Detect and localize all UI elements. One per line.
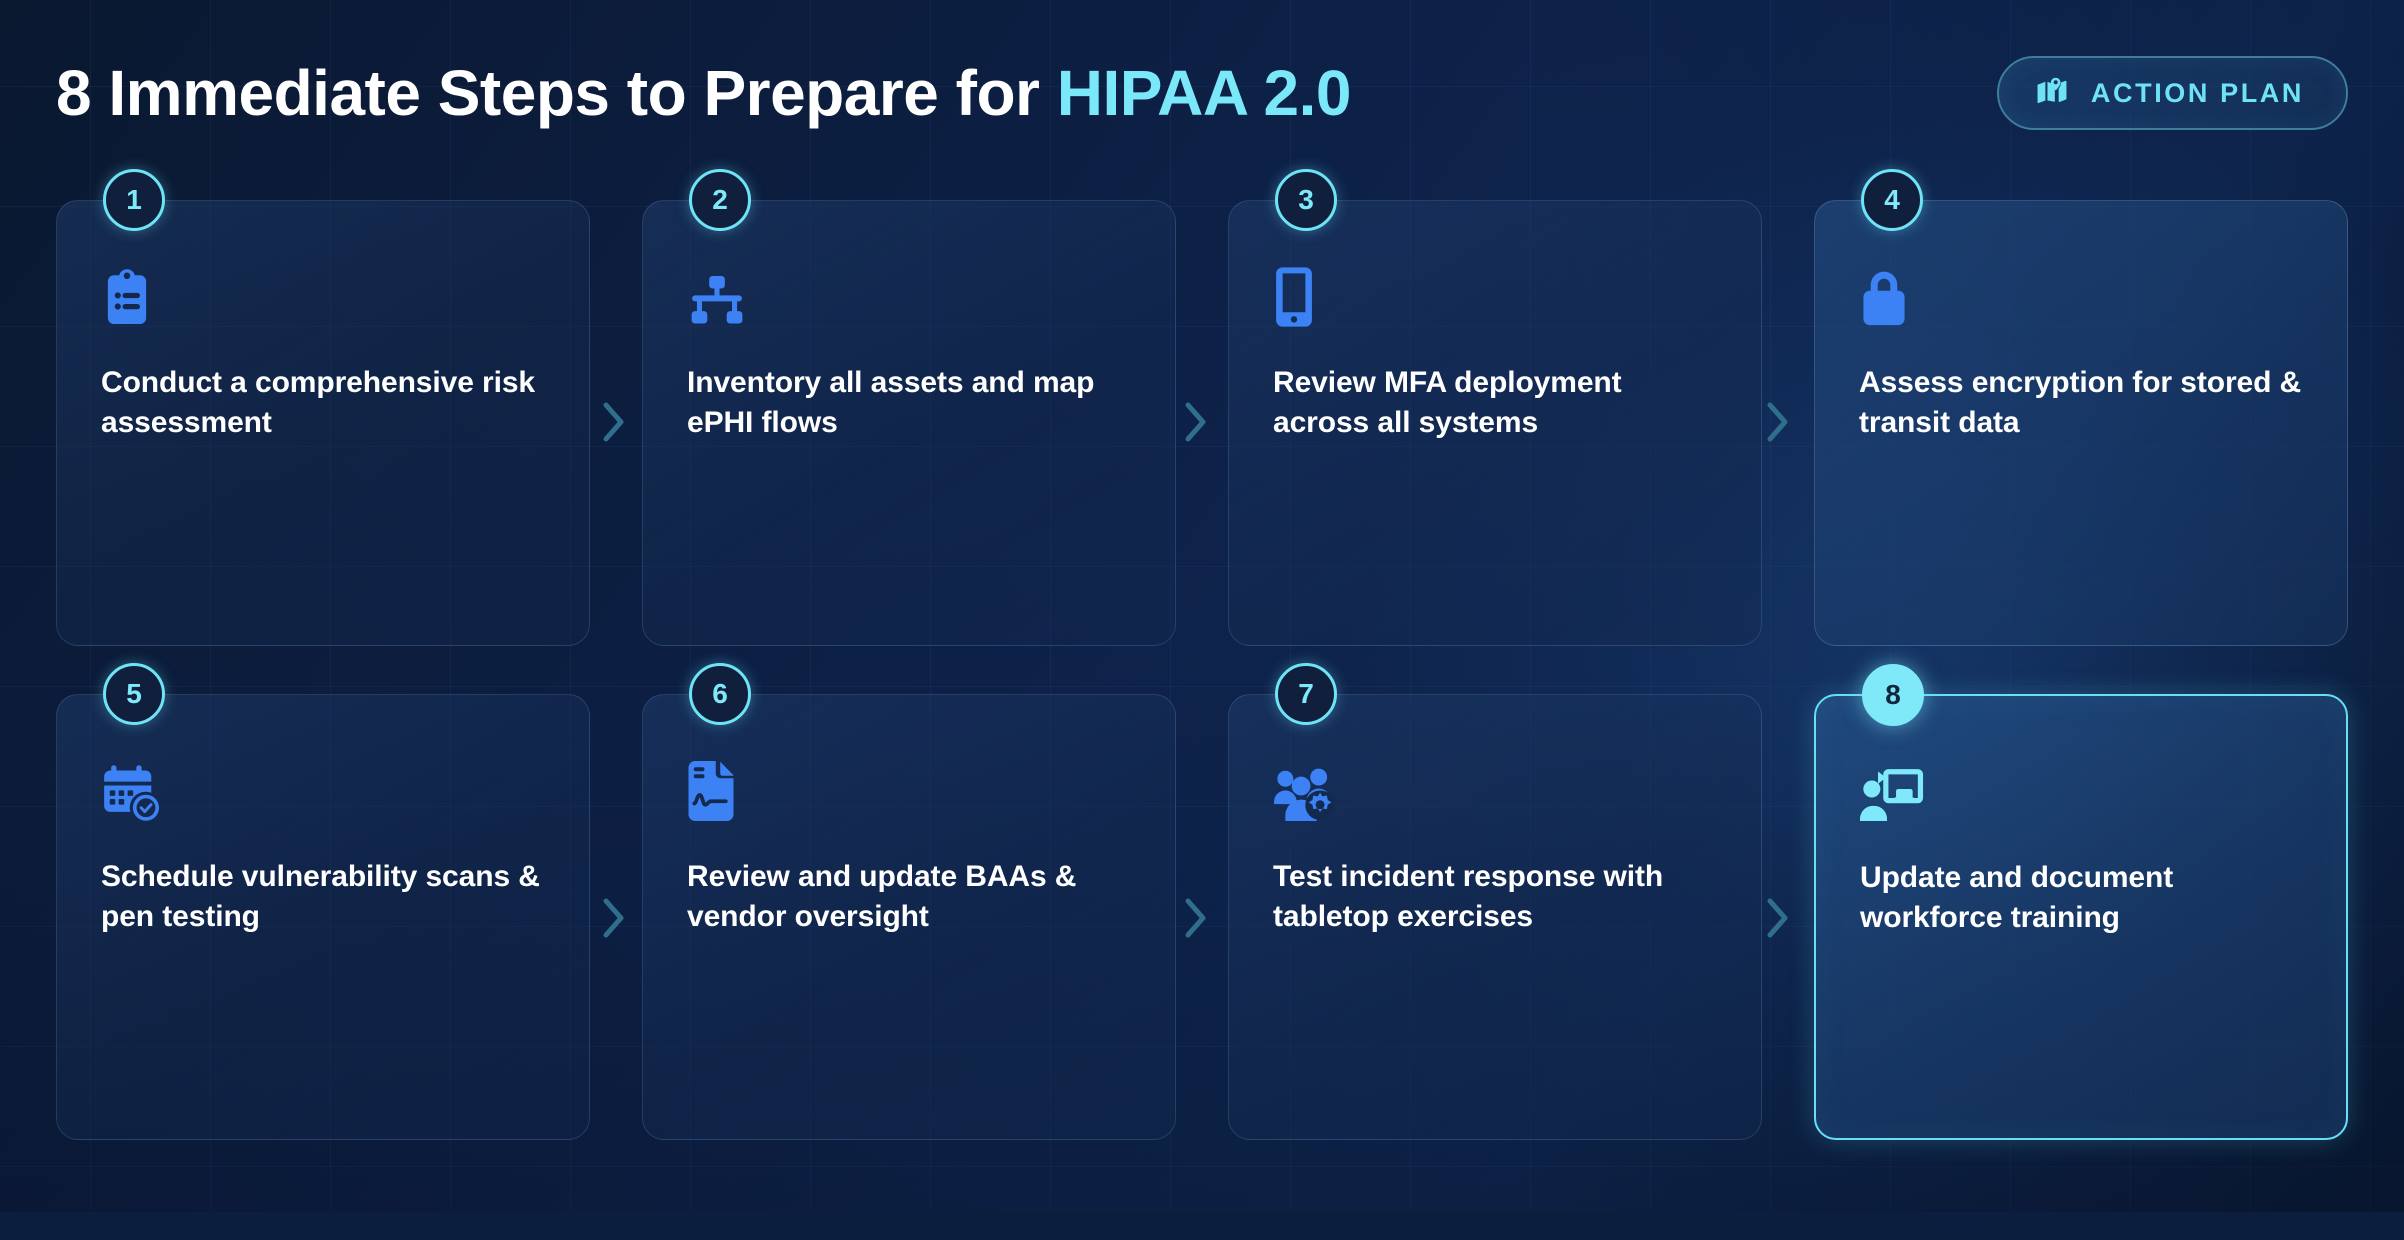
clipboard-list-icon — [101, 263, 545, 327]
map-pin-icon — [2035, 76, 2069, 110]
step-number-badge-1: 1 — [103, 169, 165, 231]
step-card-7-text: Test incident response with tabletop exe… — [1273, 857, 1717, 937]
mobile-phone-icon — [1273, 263, 1717, 327]
step-card-7[interactable]: 7 Test incident response with table — [1228, 694, 1762, 1140]
step-card-4[interactable]: 4 Assess encryption for stored & transit… — [1814, 200, 2348, 646]
step-card-5-text: Schedule vulnerability scans & pen testi… — [101, 857, 545, 937]
step-card-8-text: Update and document workforce training — [1860, 858, 2302, 938]
step-card-5[interactable]: 5 Schedule vulnerabili — [56, 694, 590, 1140]
step-card-2[interactable]: 2 Inventory all assets and map ePHI flow… — [642, 200, 1176, 646]
lock-icon — [1859, 263, 2303, 327]
step-number-badge-7: 7 — [1275, 663, 1337, 725]
step-card-3-surface: 3 Review MFA deployment across all syste… — [1228, 200, 1762, 646]
page-title-accent: HIPAA 2.0 — [1057, 57, 1351, 129]
sitemap-network-icon — [687, 263, 1131, 327]
step-card-4-surface: 4 Assess encryption for stored & transit… — [1814, 200, 2348, 646]
file-waveform-icon — [687, 757, 1131, 821]
step-card-1-surface: 1 Conduct a comprehensive risk assessmen… — [56, 200, 590, 646]
step-number-badge-8: 8 — [1862, 664, 1924, 726]
step-card-1-text: Conduct a comprehensive risk assessment — [101, 363, 545, 443]
step-card-7-surface: 7 Test incident response with table — [1228, 694, 1762, 1140]
action-plan-badge[interactable]: ACTION PLAN — [1997, 56, 2348, 130]
users-gear-icon — [1273, 757, 1717, 821]
step-card-5-surface: 5 Schedule vulnerabili — [56, 694, 590, 1140]
action-plan-badge-label: ACTION PLAN — [2091, 78, 2304, 109]
page-title: 8 Immediate Steps to Prepare for HIPAA 2… — [56, 61, 1351, 125]
step-number-badge-4: 4 — [1861, 169, 1923, 231]
step-card-1[interactable]: 1 Conduct a comprehensive risk assessmen… — [56, 200, 590, 646]
step-card-6-text: Review and update BAAs & vendor oversigh… — [687, 857, 1131, 937]
step-card-3-text: Review MFA deployment across all systems — [1273, 363, 1717, 443]
step-number-badge-2: 2 — [689, 169, 751, 231]
step-card-6-surface: 6 Review and update BAAs & vendor oversi… — [642, 694, 1176, 1140]
presentation-training-icon — [1860, 758, 2302, 822]
header: 8 Immediate Steps to Prepare for HIPAA 2… — [56, 48, 2348, 138]
step-card-2-surface: 2 Inventory all assets and map ePHI flow… — [642, 200, 1176, 646]
step-card-6[interactable]: 6 Review and update BAAs & vendor oversi… — [642, 694, 1176, 1140]
page-title-main: 8 Immediate Steps to Prepare for — [56, 57, 1057, 129]
step-card-2-text: Inventory all assets and map ePHI flows — [687, 363, 1131, 443]
step-number-badge-3: 3 — [1275, 169, 1337, 231]
step-card-4-text: Assess encryption for stored & transit d… — [1859, 363, 2303, 443]
step-card-8-surface: 8 Update and document workforce training — [1814, 694, 2348, 1140]
step-card-3[interactable]: 3 Review MFA deployment across all syste… — [1228, 200, 1762, 646]
step-card-8[interactable]: 8 Update and document workforce training — [1814, 694, 2348, 1140]
calendar-check-icon — [101, 757, 545, 821]
step-number-badge-5: 5 — [103, 663, 165, 725]
steps-grid: 1 Conduct a comprehensive risk assessmen… — [56, 200, 2348, 1140]
step-number-badge-6: 6 — [689, 663, 751, 725]
infographic-page: 8 Immediate Steps to Prepare for HIPAA 2… — [0, 0, 2404, 1212]
